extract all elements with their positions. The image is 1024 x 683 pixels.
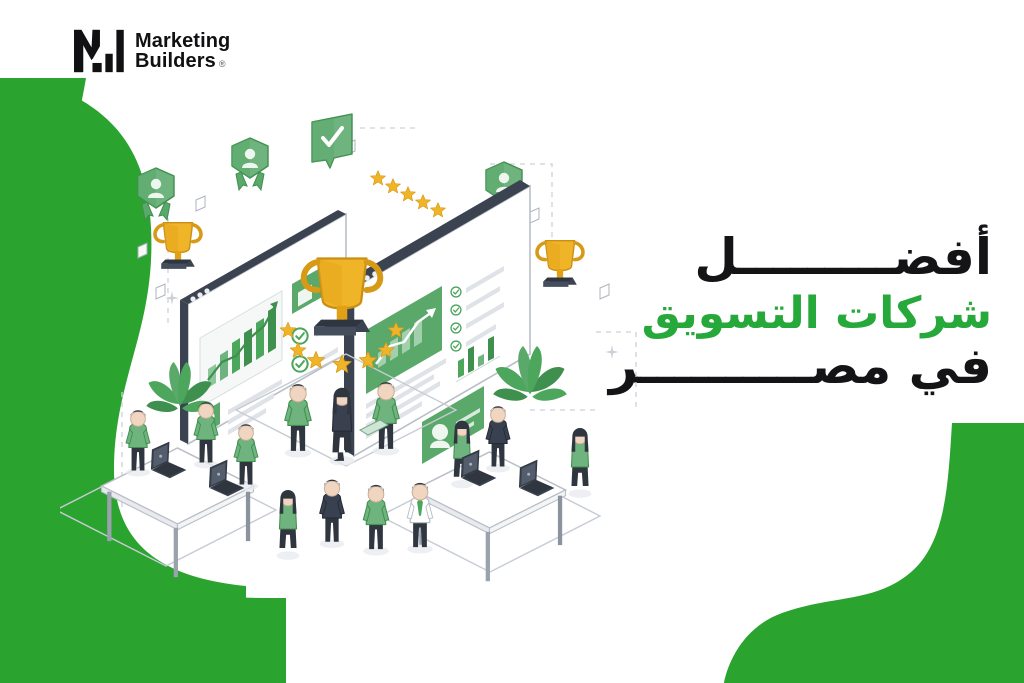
isometric-marketing-illustration [60,92,680,602]
badge-shield-person-top [232,138,268,190]
poster-canvas: Marketing Builders ® أفضـــــــــل شركات… [0,0,1024,683]
desk-group-right [363,406,600,581]
person-standing-right [320,480,345,548]
desk [414,452,566,581]
logo-line-1: Marketing [135,31,230,51]
logo-line-2-wrap: Builders ® [135,51,230,71]
logo-line-2: Builders [135,51,216,71]
registered-mark: ® [219,60,226,71]
logo-wordmark: Marketing Builders ® [135,31,230,71]
brand-logo[interactable]: Marketing Builders ® [72,28,230,74]
person-woman-standing [569,428,592,498]
mb-monogram-icon [72,28,124,74]
person-woman-standing [277,490,300,560]
person-greeting [363,485,388,556]
trophy-left-icon [155,223,201,269]
checkmark-speech-bubble [312,114,352,168]
badge-shield-person-left [138,168,174,220]
five-star-rating-top [370,171,445,217]
trophy-right-icon [537,241,583,287]
green-blob-bottom-right [724,423,1024,683]
